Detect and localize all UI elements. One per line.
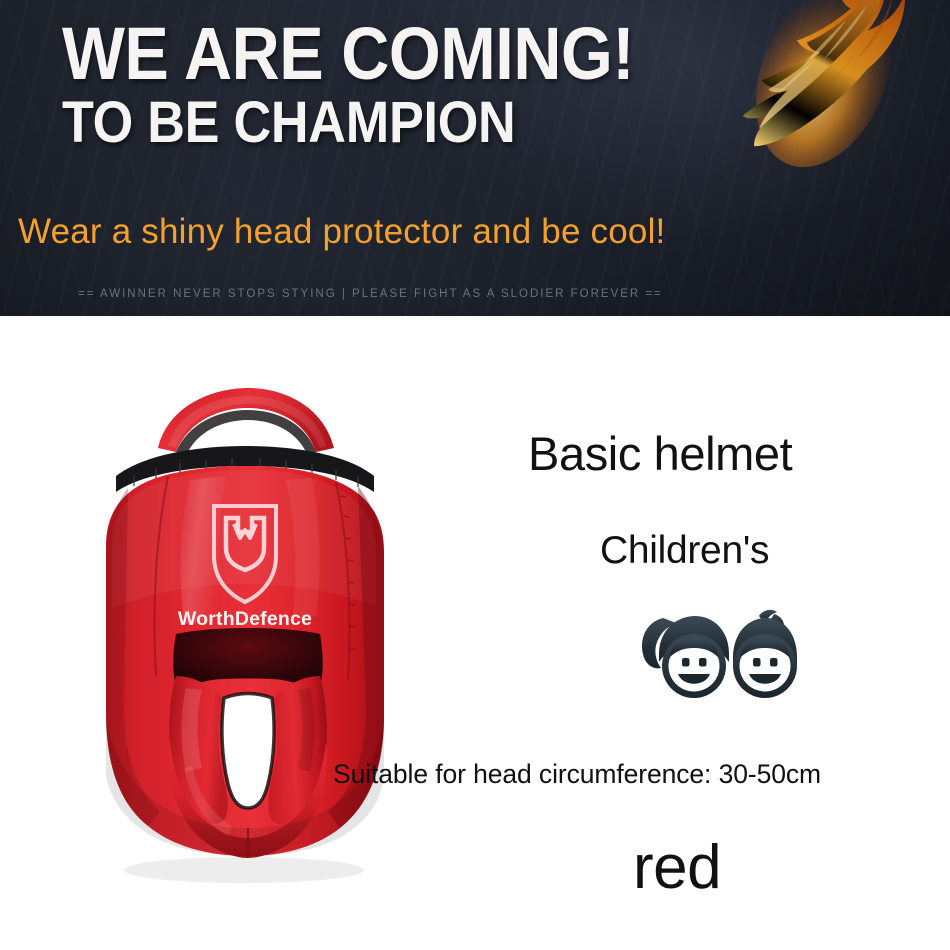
product-section: WorthDefence Basic helmet Children's (0, 316, 950, 950)
product-title: Basic helmet (528, 426, 792, 481)
banner-headline-group: WE ARE COMING! TO BE CHAMPION (62, 18, 782, 153)
promo-banner: WE ARE COMING! TO BE CHAMPION Wear a shi… (0, 0, 950, 316)
girl-right-eye (699, 658, 707, 667)
head-circumference-note: Suitable for head circumference: 30-50cm (333, 759, 821, 790)
headline-line-1: WE ARE COMING! (62, 18, 710, 89)
product-marketing-image: WE ARE COMING! TO BE CHAMPION Wear a shi… (0, 0, 950, 950)
boy-right-eye (770, 658, 778, 667)
boxing-headgear-photo: WorthDefence (72, 376, 417, 886)
boy-left-eye (753, 658, 761, 667)
two-children-faces-icon (633, 608, 803, 702)
girl-left-eye (682, 658, 690, 667)
headline-line-2: TO BE CHAMPION (62, 93, 710, 153)
banner-tagline: == AWINNER NEVER STOPS STYING | PLEASE F… (78, 288, 663, 300)
banner-subheadline: Wear a shiny head protector and be cool! (18, 212, 665, 252)
product-age-group: Children's (600, 529, 769, 573)
product-color-name: red (633, 832, 721, 903)
brand-wordmark: WorthDefence (178, 608, 312, 630)
